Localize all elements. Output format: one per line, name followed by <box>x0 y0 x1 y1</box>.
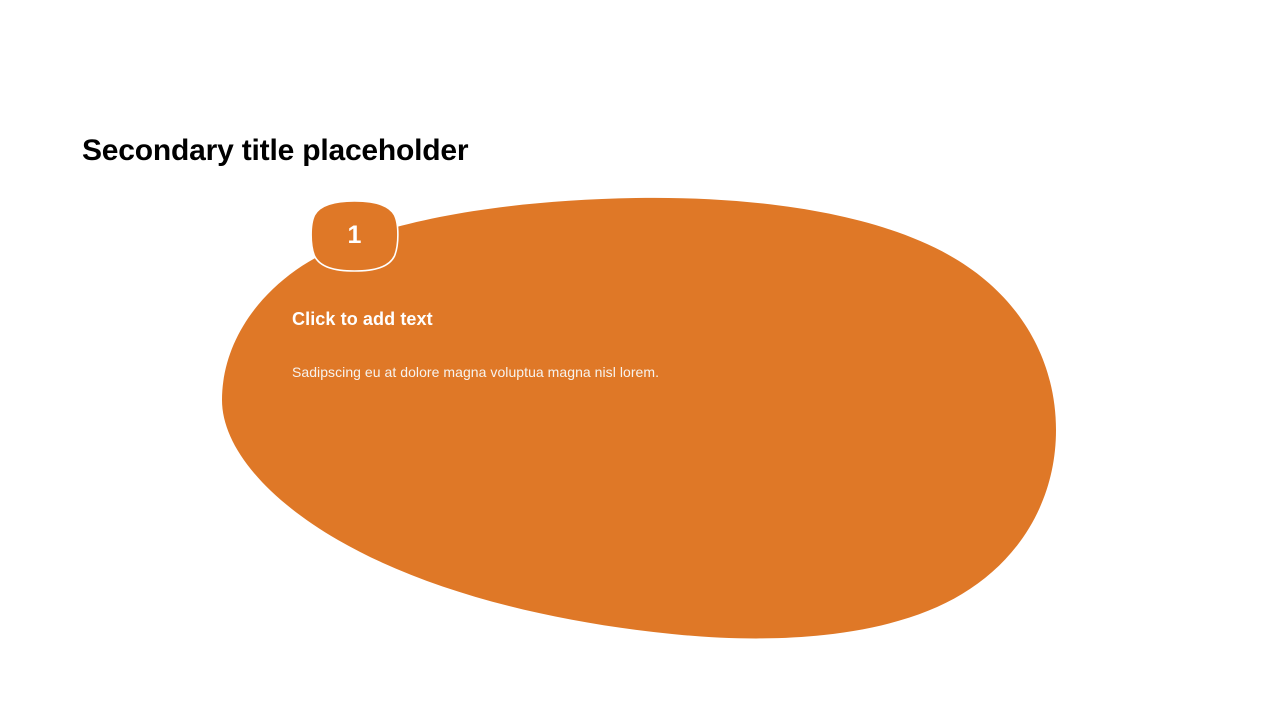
badge-number-label: 1 <box>309 199 400 273</box>
slide-canvas: Secondary title placeholder 1 Click to a… <box>0 0 1280 720</box>
content-body-text[interactable]: Sadipscing eu at dolore magna voluptua m… <box>292 332 932 382</box>
content-heading[interactable]: Click to add text <box>292 306 932 332</box>
blob-text-block: Click to add text Sadipscing eu at dolor… <box>292 306 932 382</box>
